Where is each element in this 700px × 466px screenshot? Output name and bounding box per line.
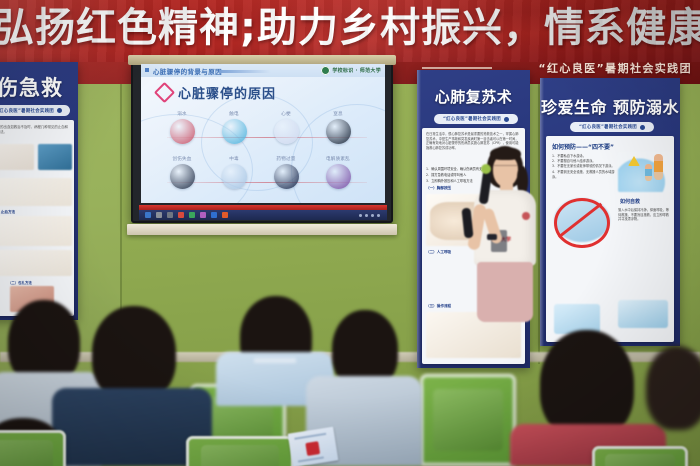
roll-cpr-item2: 2．拨打急救电话或呼叫他人 xyxy=(426,172,466,177)
taskbar-app-icon[interactable] xyxy=(156,212,162,218)
roll-left-section3: （二）包扎方法 xyxy=(8,280,32,285)
roll-cpr-section3: （三）操作流程 xyxy=(426,304,451,309)
microphone-second[interactable] xyxy=(461,208,473,239)
chair-row-front-3 xyxy=(592,446,688,466)
slide-circle-row1-thumb xyxy=(170,119,195,144)
roll-cpr-badge-dot-icon xyxy=(504,117,509,122)
slide-circle-row1-thumb xyxy=(274,119,299,144)
slide-title: 心脏骤停的原因 xyxy=(178,83,276,102)
taskbar-app-icon[interactable] xyxy=(145,212,151,218)
taskbar-app-icon[interactable] xyxy=(222,212,228,218)
roll-left-illustration-3 xyxy=(0,178,72,206)
slide-bullet-icon xyxy=(145,68,149,72)
presenter-skirt xyxy=(477,262,533,322)
slide-title-row: 心脏骤停的原因 xyxy=(157,83,276,102)
slide-circle-row1-item: 窒息 xyxy=(317,111,359,144)
roll-drown-badge-text: “红心良医”暑期社会实践团 xyxy=(579,124,637,130)
slide-circle-row2-thumb xyxy=(326,164,351,189)
taskbar-app-icon[interactable] xyxy=(167,212,173,218)
slide-circle-row2-thumb xyxy=(170,164,195,189)
taskbar-app-icon[interactable] xyxy=(211,212,217,218)
roll-cpr-badge-text: “红心良医”暑期社会实践团 xyxy=(443,116,501,122)
slide-circle-row1-label: 溺水 xyxy=(161,111,203,117)
roll-cpr-title: 心肺复苏术 xyxy=(417,86,530,107)
slide-circle-row1-label: 心梗 xyxy=(265,111,307,117)
slide-circle-row-2: 创伤失血中毒药物过量电解质紊乱 xyxy=(161,156,367,196)
logo-text: 学校标识 · 师范大学 xyxy=(332,67,381,74)
slide-circle-row-1: 溺水触电心梗窒息 xyxy=(161,111,367,151)
presenter-bangs xyxy=(490,147,521,160)
roll-drown-rule-item: 4．不要到无安全设施、无救援人员的水域游泳。 xyxy=(552,170,616,180)
slide-circle-row2-item: 创伤失血 xyxy=(161,156,203,189)
banner-main-text: 弘扬红色精神;助力乡村振兴，情系健康中国 xyxy=(0,2,700,54)
roll-drown-heading1: 如何预防——“四不要” xyxy=(552,142,614,151)
slide-circle-row2-thumb xyxy=(222,164,247,189)
roll-banner-left: 伤急救 “红心良医”暑期社会实践团 对严重的出血如救治不及时，病程几种常见的止血… xyxy=(0,62,78,320)
roll-drown-badge-dot-icon xyxy=(640,125,645,130)
taskbar-tray-dot-4 xyxy=(377,214,380,217)
slide-circle-row1-thumb xyxy=(222,119,247,144)
roll-drown-badge: “红心良医”暑期社会实践团 xyxy=(570,122,654,132)
microphone-head-icon xyxy=(481,164,491,174)
slide-circle-row1-label: 窒息 xyxy=(317,111,359,117)
roll-drown-adult-figure xyxy=(654,154,663,180)
audience-lanyard-3 xyxy=(254,358,296,363)
roll-left-illustration-2 xyxy=(38,144,72,170)
slide-canvas: 心脏骤停的背景与原因 学校标识 · 师范大学 心脏骤停的原因 溺水触电心梗窒息 … xyxy=(141,64,385,203)
taskbar-app-icon[interactable] xyxy=(178,212,184,218)
taskbar-tray-dot-1 xyxy=(359,214,362,217)
chair-row-front-2 xyxy=(186,436,294,466)
slide-circle-row1-label: 触电 xyxy=(213,111,255,117)
banner-rule xyxy=(422,67,492,69)
slide-circle-row1-thumb xyxy=(326,119,351,144)
roll-drown-heading2: 如何自救 xyxy=(620,198,640,205)
roll-drown-rule-item: 3．不要在无家长或老师带领的情况下游泳。 xyxy=(552,164,616,169)
roll-cpr-highlight xyxy=(417,70,421,368)
display-control-panel[interactable] xyxy=(127,224,397,235)
roll-left-section2: （一）止血方法 xyxy=(0,210,15,215)
roll-left-title: 伤急救 xyxy=(0,72,78,102)
banner-subtitle: “红心良医”暑期社会实践团 xyxy=(538,60,692,76)
roll-drown-warning-sign-icon xyxy=(628,156,640,166)
chair-row-front-1 xyxy=(0,430,66,466)
roll-drown-card: 如何预防——“四不要” 1．不要私自下水游泳。2．不要擅自与他人结伴游泳。3．不… xyxy=(546,136,674,342)
slide-circle-row1-item: 触电 xyxy=(213,111,255,144)
roll-drown-child-figure xyxy=(645,164,652,181)
slide-circle-row2-thumb xyxy=(274,164,299,189)
roll-drown-rescue-illustration-2 xyxy=(618,300,668,328)
roll-cpr-section2: （二）人工呼吸 xyxy=(426,250,451,255)
roll-left-badge-text: “红心良医”暑期社会实践团 xyxy=(0,108,54,114)
slide-circle-row2-item: 电解质紊乱 xyxy=(317,156,359,189)
display-taskbar[interactable] xyxy=(139,210,387,220)
slide-circle-row2-label: 电解质紊乱 xyxy=(317,156,359,162)
leaflet[interactable] xyxy=(288,427,339,466)
diamond-icon xyxy=(154,82,175,103)
presenter-glasses-icon xyxy=(494,165,517,171)
slide-circle-row2-label: 中毒 xyxy=(213,156,255,162)
slide-circle-row2-label: 药物过量 xyxy=(265,156,307,162)
roll-left-section-text: 对严重的出血如救治不及时，病程几种常见的止血和包扎方法。 xyxy=(0,125,70,135)
presentation-display[interactable]: 心脏骤停的背景与原因 学校标识 · 师范大学 心脏骤停的原因 溺水触电心梗窒息 … xyxy=(131,58,393,223)
slide-circle-row1-item: 溺水 xyxy=(161,111,203,144)
slide-circle-row2-label: 创伤失血 xyxy=(161,156,203,162)
roll-banner-drowning: 珍爱生命 预防溺水 “红心良医”暑期社会实践团 如何预防——“四不要” 1．不要… xyxy=(540,78,680,346)
photo-scene: 弘扬红色精神;助力乡村振兴，情系健康中国 “红心良医”暑期社会实践团 心脏骤停的… xyxy=(0,0,700,466)
university-logo: 学校标识 · 师范大学 xyxy=(321,66,381,75)
slide-circle-row2-item: 中毒 xyxy=(213,156,255,189)
taskbar-app-icon[interactable] xyxy=(189,212,195,218)
roll-drown-warning-text xyxy=(552,248,612,252)
logo-emblem-icon xyxy=(321,66,330,75)
leaflet-line-2 xyxy=(298,456,324,462)
roll-cpr-section1: （一）胸部按压 xyxy=(426,186,451,191)
roll-left-illustration-4 xyxy=(0,216,72,246)
roll-cpr-badge: “红心良医”暑期社会实践团 xyxy=(434,114,518,124)
roll-left-card: 对严重的出血如救治不及时，病程几种常见的止血和包扎方法。 （一）止血方法 （二）… xyxy=(0,120,74,316)
roll-left-illustration-1 xyxy=(0,144,34,170)
leaflet-line-1 xyxy=(294,433,326,439)
presenter-watch-icon xyxy=(487,234,497,240)
roll-drown-title: 珍爱生命 预防溺水 xyxy=(540,94,680,118)
audience-head-6 xyxy=(646,346,700,430)
presenter: 师范大学 xyxy=(465,146,547,368)
taskbar-tray-dot-3 xyxy=(371,214,374,217)
roll-left-illustration-5 xyxy=(0,250,72,276)
taskbar-app-icon[interactable] xyxy=(200,212,206,218)
leaflet-emblem-icon xyxy=(305,441,320,456)
red-banner: 弘扬红色精神;助力乡村振兴，情系健康中国 xyxy=(0,0,700,62)
slide-header-accent xyxy=(219,70,271,73)
roll-drown-note: 落入水中后保持冷静，仰面呼吸，等待救援。不要盲目施救，应立即呼救并寻找漂浮物。 xyxy=(618,208,670,222)
taskbar-tray-dot-2 xyxy=(365,214,368,217)
presenter-shirt-logo-icon xyxy=(522,212,530,220)
roll-left-badge-dot-icon xyxy=(57,108,62,113)
slide-circle-row1-item: 心梗 xyxy=(265,111,307,144)
roll-drown-rule-list: 1．不要私自下水游泳。2．不要擅自与他人结伴游泳。3．不要在无家长或老师带领的情… xyxy=(552,154,616,180)
slide-circle-row2-item: 药物过量 xyxy=(265,156,307,189)
slide-breadcrumb: 心脏骤停的背景与原因 xyxy=(153,66,222,76)
roll-left-badge: “红心良医”暑期社会实践团 xyxy=(0,105,70,116)
chair-row-back-3 xyxy=(420,374,516,466)
